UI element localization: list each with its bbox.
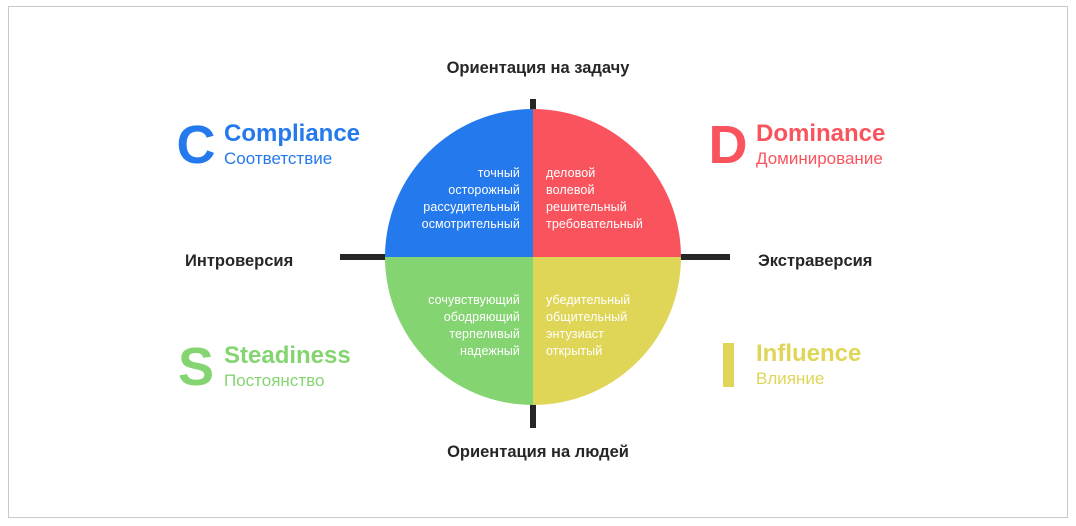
title-en: Steadiness [224,342,351,369]
traits-steadiness: сочувствующий ободряющий терпеливый наде… [428,292,520,360]
letter-c-icon: C [168,118,224,172]
axis-caption-people-orientation: Ориентация на людей [0,443,1076,462]
trait-item: осторожный [422,182,520,199]
trait-item: надежный [428,343,520,360]
trait-item: требовательный [546,216,643,233]
traits-influence: убедительный общительный энтузиаст откры… [546,292,630,360]
trait-item: сочувствующий [428,292,520,309]
label-names: Influence Влияние [756,340,861,390]
title-ru: Постоянство [224,369,351,392]
label-block-dominance: D Dominance Доминирование [700,118,885,172]
disc-diagram: Ориентация на задачу точный осторожный р… [0,0,1076,526]
trait-item: деловой [546,165,643,182]
trait-item: терпеливый [428,326,520,343]
axis-caption-introversion: Интроверсия [185,252,293,271]
trait-item: осмотрительный [422,216,520,233]
title-en: Influence [756,340,861,367]
trait-item: ободряющий [428,309,520,326]
trait-item: открытый [546,343,630,360]
letter-d-icon: D [700,118,756,172]
axis-caption-extraversion: Экстраверсия [758,252,872,271]
letter-i-icon [723,343,734,387]
letter-s-icon: S [168,340,224,394]
title-en: Compliance [224,120,360,147]
label-names: Dominance Доминирование [756,120,885,170]
disc-wheel [385,109,681,405]
trait-item: точный [422,165,520,182]
label-names: Steadiness Постоянство [224,342,351,392]
title-ru: Доминирование [756,147,885,170]
axis-caption-task-orientation: Ориентация на задачу [0,59,1076,78]
trait-item: решительный [546,199,643,216]
trait-item: волевой [546,182,643,199]
trait-item: убедительный [546,292,630,309]
label-names: Compliance Соответствие [224,120,360,170]
title-ru: Влияние [756,367,861,390]
trait-item: общительный [546,309,630,326]
label-block-influence: Influence Влияние [700,340,861,390]
traits-compliance: точный осторожный рассудительный осмотри… [422,165,520,233]
label-block-compliance: C Compliance Соответствие [168,118,360,172]
title-ru: Соответствие [224,147,360,170]
trait-item: рассудительный [422,199,520,216]
label-block-steadiness: S Steadiness Постоянство [168,340,351,394]
trait-item: энтузиаст [546,326,630,343]
traits-dominance: деловой волевой решительный требовательн… [546,165,643,233]
title-en: Dominance [756,120,885,147]
